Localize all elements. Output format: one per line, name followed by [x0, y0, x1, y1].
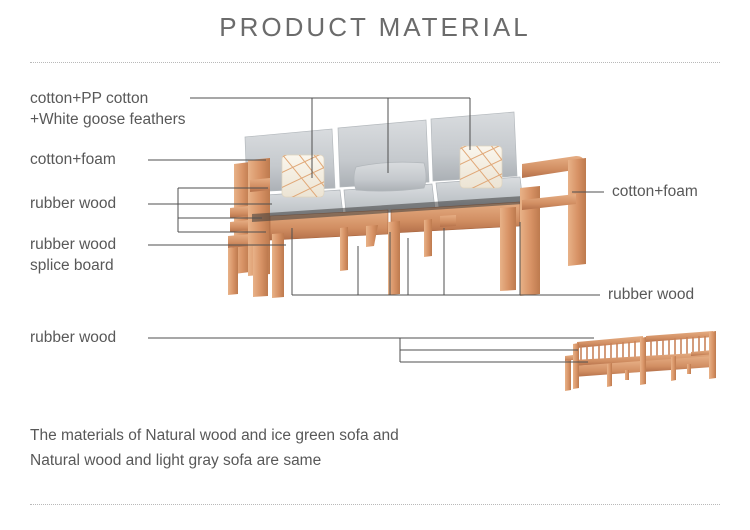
sofa-leg — [500, 207, 516, 291]
sofa-leg — [272, 233, 284, 298]
label-left-backrest: cotton+foam — [30, 149, 116, 170]
label-bottom-frame: rubber wood — [30, 327, 116, 348]
label-left-splice: rubber wood splice board — [30, 234, 116, 276]
divider-bottom — [30, 504, 720, 505]
sofa-leg — [388, 221, 400, 295]
sofa-leg — [424, 219, 432, 257]
lumbar-pillow — [354, 162, 426, 191]
bench-illustration — [563, 330, 728, 396]
infographic-canvas: PRODUCT MATERIAL — [0, 0, 750, 530]
sofa-leg — [340, 227, 348, 271]
sofa-support-block — [366, 225, 378, 247]
label-left-frame: rubber wood — [30, 193, 116, 214]
sofa-support-block — [440, 215, 456, 227]
label-top-left-cushion: cotton+PP cotton +White goose feathers — [30, 88, 186, 130]
divider-top — [30, 62, 720, 63]
sofa-illustration — [228, 104, 593, 299]
page-title: PRODUCT MATERIAL — [0, 12, 750, 43]
label-right-seat: cotton+foam — [612, 181, 698, 202]
footer-note: The materials of Natural wood and ice gr… — [30, 423, 590, 473]
label-right-legs: rubber wood — [608, 284, 694, 305]
